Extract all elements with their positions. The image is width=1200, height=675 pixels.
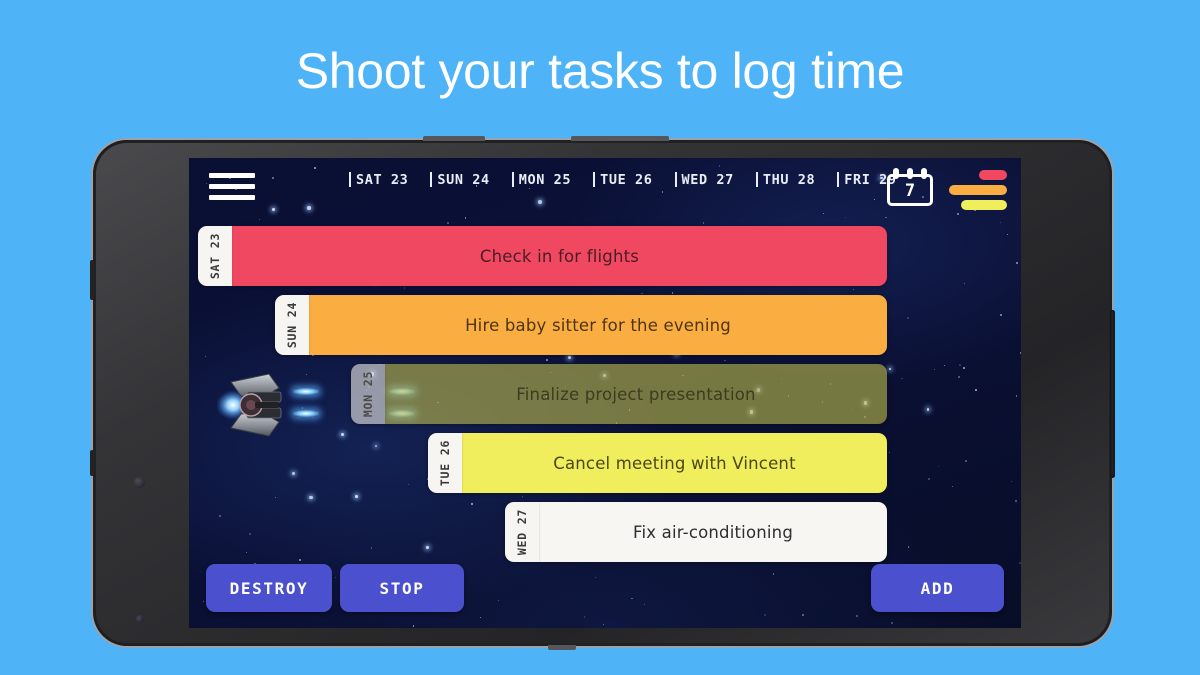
task-list: SAT 23Check in for flightsSUN 24Hire bab… [189, 226, 1021, 571]
task-summary-bar [979, 170, 1007, 180]
task-day-label: MON 25 [361, 371, 375, 417]
task-day-tab: TUE 26 [428, 433, 462, 493]
day-strip: SAT 23SUN 24MON 25TUE 26WED 27THU 28FRI … [349, 172, 897, 188]
task-title: Cancel meeting with Vincent [553, 454, 796, 473]
day-tab[interactable]: MON 25 [512, 172, 571, 188]
task-day-label: SAT 23 [208, 233, 222, 279]
day-tab[interactable]: TUE 26 [593, 172, 652, 188]
task-title: Check in for flights [480, 247, 639, 266]
app-screen: SAT 23SUN 24MON 25TUE 26WED 27THU 28FRI … [189, 158, 1021, 628]
hamburger-menu-icon[interactable] [209, 173, 255, 200]
day-tab[interactable]: WED 27 [675, 172, 734, 188]
day-tab[interactable]: THU 28 [756, 172, 815, 188]
hamburger-bar [209, 184, 255, 189]
hamburger-bar [209, 173, 255, 178]
task-bar[interactable]: Check in for flights [232, 226, 887, 286]
task-row[interactable]: SUN 24Hire baby sitter for the evening [189, 295, 1021, 355]
page-headline: Shoot your tasks to log time [0, 42, 1200, 100]
calendar-icon[interactable]: 7 [887, 168, 933, 206]
phone-sensor-icon [136, 615, 144, 623]
phone-top-notch-left [423, 136, 485, 141]
add-button[interactable]: ADD [871, 564, 1004, 612]
task-day-label: SUN 24 [285, 302, 299, 348]
phone-side-button[interactable] [90, 450, 94, 476]
task-day-tab: MON 25 [351, 364, 385, 424]
task-title: Fix air-conditioning [633, 523, 793, 542]
task-row[interactable]: TUE 26Cancel meeting with Vincent [189, 433, 1021, 493]
phone-top-notch-right [571, 136, 669, 141]
stop-button[interactable]: STOP [340, 564, 464, 612]
phone-bottom-notch [548, 645, 576, 650]
task-row[interactable]: SAT 23Check in for flights [189, 226, 1021, 286]
task-bar[interactable]: Finalize project presentation [385, 364, 887, 424]
task-summary-bar [961, 200, 1007, 210]
calendar-day-number: 7 [887, 181, 933, 201]
task-title: Hire baby sitter for the evening [465, 316, 731, 335]
task-summary-bars[interactable] [949, 170, 1007, 210]
task-day-tab: SAT 23 [198, 226, 232, 286]
task-day-tab: SUN 24 [275, 295, 309, 355]
app-topbar: SAT 23SUN 24MON 25TUE 26WED 27THU 28FRI … [189, 158, 1021, 214]
phone-front-camera-icon [134, 477, 145, 488]
day-tab[interactable]: SAT 23 [349, 172, 408, 188]
phone-volume-button[interactable] [90, 260, 94, 300]
task-day-tab: WED 27 [505, 502, 539, 562]
destroy-button[interactable]: DESTROY [206, 564, 332, 612]
task-bar[interactable]: Fix air-conditioning [539, 502, 887, 562]
task-title: Finalize project presentation [516, 385, 755, 404]
task-row[interactable]: MON 25Finalize project presentation [189, 364, 1021, 424]
task-summary-bar [949, 185, 1007, 195]
task-bar[interactable]: Hire baby sitter for the evening [309, 295, 887, 355]
phone-power-button[interactable] [1110, 310, 1115, 478]
hamburger-bar [209, 195, 255, 200]
task-bar[interactable]: Cancel meeting with Vincent [462, 433, 887, 493]
phone-device-frame: SAT 23SUN 24MON 25TUE 26WED 27THU 28FRI … [93, 140, 1112, 646]
day-tab[interactable]: SUN 24 [430, 172, 489, 188]
task-day-label: WED 27 [515, 509, 529, 555]
task-row[interactable]: WED 27Fix air-conditioning [189, 502, 1021, 562]
task-day-label: TUE 26 [438, 440, 452, 486]
